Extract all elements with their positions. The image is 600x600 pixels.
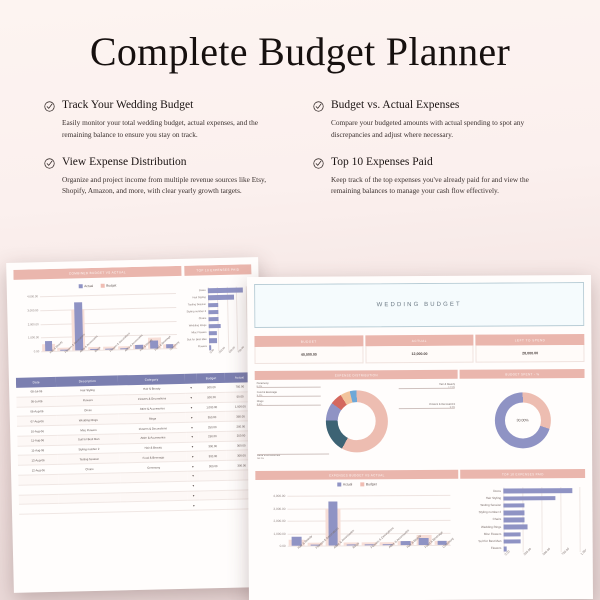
bar-group xyxy=(40,296,56,351)
row-dropdown-icon[interactable]: ▼ xyxy=(187,461,199,471)
bar xyxy=(208,317,219,322)
feature-item-top-expenses: Top 10 Expenses Paid Keep track of the t… xyxy=(313,155,556,198)
feature-description: Organize and project income from multipl… xyxy=(62,174,277,198)
bar-label: Styling number 2 xyxy=(479,511,502,514)
donut-ring: 30.00% xyxy=(494,392,550,448)
summary-label: BUDGET xyxy=(254,335,363,347)
y-axis-tick: 0.00 xyxy=(280,544,286,548)
donut-center-percent: 30.00% xyxy=(516,418,528,422)
bar xyxy=(503,532,520,537)
leader-line xyxy=(257,396,321,397)
row-dropdown-icon[interactable]: ▼ xyxy=(185,403,197,413)
y-axis-tick: 0.00 xyxy=(34,349,40,353)
page-title: Complete Budget Planner xyxy=(0,0,600,74)
x-axis-tick: Rings xyxy=(342,545,360,571)
x-axis-tick: Ceremony xyxy=(433,545,451,571)
spreadsheet-left[interactable]: COMBINED BUDGET VS ACTUAL TOP 10 EXPENSE… xyxy=(6,257,266,593)
bar-label: Suit for Best Man xyxy=(187,339,207,342)
bar-label: Misc Flowers xyxy=(191,332,206,335)
bar-label: Hair Styling xyxy=(192,297,205,300)
x-axis-tick: Attire & Accessories xyxy=(378,545,396,571)
donut-hole xyxy=(337,402,376,441)
row-dropdown-icon[interactable]: ▼ xyxy=(188,491,200,501)
row-dropdown-icon[interactable]: ▼ xyxy=(185,384,197,394)
bar xyxy=(208,288,243,293)
table-cell xyxy=(200,500,229,510)
legend-actual: Actual xyxy=(79,284,93,288)
band-top-10-expenses-paid: TOP 10 EXPENSES PAID xyxy=(184,264,251,276)
x-axis-tick: Rings xyxy=(87,350,103,372)
summary-value: 40,000.00 xyxy=(254,346,363,364)
spreadsheet-mockups: COMBINED BUDGET VS ACTUAL TOP 10 EXPENSE… xyxy=(0,248,600,600)
bar-label: Wedding Rings xyxy=(189,325,207,328)
row-dropdown-icon[interactable]: ▼ xyxy=(186,412,198,422)
bar xyxy=(503,496,555,501)
row-dropdown-icon[interactable]: ▼ xyxy=(186,432,198,442)
bar xyxy=(503,518,524,523)
legend-swatch-actual xyxy=(337,483,341,487)
bar-label: Flowers xyxy=(198,346,207,349)
summary-value: 12,000.00 xyxy=(365,346,474,364)
feature-description: Easily monitor your total wedding budget… xyxy=(62,117,277,141)
chart-expenses-budget-vs-actual: Actual Budget 0.001,000.002,000.003,000.… xyxy=(255,479,459,572)
bar-label: Flowers xyxy=(491,547,502,550)
x-axis-tick: Food & Beverage xyxy=(147,348,163,370)
bar xyxy=(503,488,572,493)
x-axis-tick: Food & Beverage xyxy=(415,545,433,571)
x-axis-tick: Attire & Accessories xyxy=(117,349,133,371)
leader-line xyxy=(257,387,321,388)
summary-row: BUDGET 40,000.00 ACTUAL 12,000.00 LEFT T… xyxy=(254,334,584,364)
bar-label: Chairs xyxy=(493,518,502,521)
x-axis-tick: Flowers & Decorations xyxy=(102,349,118,371)
y-axis-tick: 4,000.00 xyxy=(273,494,285,498)
chart-legend: Actual Budget xyxy=(14,279,182,290)
table-cell xyxy=(121,501,188,512)
row-dropdown-icon[interactable]: ▼ xyxy=(187,452,199,462)
summary-value: 28,000.00 xyxy=(476,345,585,363)
y-axis-tick: 4,000.00 xyxy=(27,294,38,298)
bar xyxy=(208,310,219,315)
chart-expense-distribution: Ceremony6.2%Food & Beverage5.1%Rings3.6%… xyxy=(255,379,459,464)
bar xyxy=(503,539,520,544)
wedding-budget-title: WEDDING BUDGET xyxy=(254,282,584,328)
table-column-header: Budget xyxy=(197,373,226,384)
row-dropdown-icon[interactable]: ▼ xyxy=(187,481,199,491)
chart-top-10-expenses-paid: DressHair StylingTasting SessionStyling … xyxy=(461,478,586,571)
expenses-table[interactable]: DateDescriptionCategoryBudgetActual 08-J… xyxy=(16,372,257,515)
legend-budget: Budget xyxy=(101,283,116,287)
y-axis-tick: 2,000.00 xyxy=(273,519,285,523)
x-axis-labels: Hair & BeautyFlowers & DecorationsAttire… xyxy=(41,348,177,373)
bar-rows: DressHair StylingTasting SessionStyling … xyxy=(208,286,248,351)
chart-legend: Actual Budget xyxy=(255,479,458,487)
bar-label: Suit for Best Man xyxy=(478,540,501,543)
summary-label: ACTUAL xyxy=(365,335,474,347)
table-body[interactable]: 08-Jul-06Hair StylingHair & Beauty▼500.0… xyxy=(16,382,257,514)
feature-item-track-budget: Track Your Wedding Budget Easily monitor… xyxy=(44,98,287,141)
x-axis-tick: Hair & Beauty xyxy=(41,351,57,373)
y-axis-tick: 3,000.00 xyxy=(273,506,285,510)
bar-label: Chairs xyxy=(199,318,207,321)
bar xyxy=(503,510,524,515)
bar-actual xyxy=(328,502,338,546)
row-dropdown-icon[interactable]: ▼ xyxy=(186,442,198,452)
summary-cell-left-to-spend: LEFT TO SPEND 28,000.00 xyxy=(476,334,585,363)
check-circle-icon xyxy=(313,156,324,174)
x-axis-tick: Hair & Beauty xyxy=(397,545,415,571)
check-circle-icon xyxy=(44,99,55,117)
leader-line xyxy=(257,454,329,455)
x-axis-tick: Attire & Accessories xyxy=(324,545,342,571)
check-circle-icon xyxy=(44,156,55,174)
bar-group xyxy=(360,495,378,545)
legend-swatch-actual xyxy=(79,285,82,288)
bar-rows: DressHair StylingTasting SessionStyling … xyxy=(503,487,580,552)
donut-ring xyxy=(325,390,387,452)
x-axis-tick: Flowers & Decorations xyxy=(56,351,72,373)
bar-label: Dress xyxy=(199,290,206,293)
y-axis-tick: 1,000.00 xyxy=(28,336,39,340)
x-axis-tick: Hair & Beauty xyxy=(288,546,306,572)
x-axis-labels: 0.00250.00500.00750.001,000.00 xyxy=(209,350,248,369)
summary-cell-budget: BUDGET 40,000.00 xyxy=(254,335,363,364)
chart-top-10-expenses-paid: DressHair StylingTasting SessionStyling … xyxy=(185,277,254,370)
spreadsheet-right[interactable]: WEDDING BUDGET BUDGET 40,000.00 ACTUAL 1… xyxy=(247,275,593,600)
legend-budget: Budget xyxy=(360,482,376,486)
summary-cell-actual: ACTUAL 12,000.00 xyxy=(365,335,474,364)
check-circle-icon xyxy=(313,99,324,117)
donut-chart: 30.00% xyxy=(494,392,550,448)
x-axis-tick: Flowers & Decorations xyxy=(360,545,378,571)
x-axis-tick: Ceremony xyxy=(162,348,178,370)
y-axis-tick: 1,000.00 xyxy=(274,531,286,535)
feature-description: Keep track of the top expenses you've al… xyxy=(331,174,546,198)
summary-label: LEFT TO SPEND xyxy=(476,334,585,346)
x-axis-labels: Hair & BeautyFlowers & DecorationsAttire… xyxy=(288,545,452,572)
y-axis-tick: 2,000.00 xyxy=(28,322,39,326)
legend-swatch-budget xyxy=(360,483,364,487)
bar-label: Misc Flowers xyxy=(484,533,502,536)
bar-label: Wedding Rings xyxy=(481,526,501,529)
bar-group xyxy=(287,496,305,546)
chart-budget-spent-pct: 30.00% xyxy=(460,378,585,463)
row-dropdown-icon[interactable]: ▼ xyxy=(185,393,197,403)
bar xyxy=(503,525,527,530)
x-axis-tick: Hair & Beauty xyxy=(132,349,148,371)
row-dropdown-icon[interactable]: ▼ xyxy=(187,471,199,481)
feature-title: Track Your Wedding Budget xyxy=(62,98,287,113)
bar xyxy=(208,295,234,300)
bar-label: Dress xyxy=(493,490,501,493)
legend-swatch-budget xyxy=(101,284,104,287)
feature-item-budget-vs-actual: Budget vs. Actual Expenses Compare your … xyxy=(313,98,556,141)
feature-list: Track Your Wedding Budget Easily monitor… xyxy=(44,98,556,197)
chart-combined-budget-vs-actual: Actual Budget 0.001,000.002,000.003,000.… xyxy=(14,279,184,374)
y-axis-tick: 3,000.00 xyxy=(27,308,38,312)
feature-title: Budget vs. Actual Expenses xyxy=(331,98,556,113)
x-axis-labels: 0.00250.00500.00750.001,000.00 xyxy=(503,552,579,570)
row-dropdown-icon[interactable]: ▼ xyxy=(186,422,198,432)
bar-label: Tasting Session xyxy=(480,504,501,507)
legend-actual: Actual xyxy=(337,482,352,486)
row-dropdown-icon[interactable]: ▼ xyxy=(188,500,200,510)
bar xyxy=(209,338,218,343)
table-cell xyxy=(19,504,60,515)
table-column-header xyxy=(185,374,197,384)
bar-label: Hair Styling xyxy=(486,497,501,500)
bar xyxy=(208,303,219,308)
x-axis-tick: Attire & Accessories xyxy=(71,350,87,372)
bar-label: Tasting Session xyxy=(188,304,206,307)
bar xyxy=(503,503,524,508)
bar xyxy=(208,324,220,329)
feature-item-expense-distribution: View Expense Distribution Organize and p… xyxy=(44,155,287,198)
donut-chart: Ceremony6.2%Food & Beverage5.1%Rings3.6%… xyxy=(255,379,458,380)
leader-line xyxy=(257,405,321,406)
bar xyxy=(209,331,218,336)
bar-group xyxy=(100,294,116,349)
x-axis-tick: Flowers & Decorations xyxy=(306,546,324,572)
feature-title: View Expense Distribution xyxy=(62,155,287,170)
bar-label: Styling number 2 xyxy=(187,311,207,314)
table-cell xyxy=(59,502,121,513)
feature-description: Compare your budgeted amounts with actua… xyxy=(331,117,546,141)
feature-title: Top 10 Expenses Paid xyxy=(331,155,556,170)
